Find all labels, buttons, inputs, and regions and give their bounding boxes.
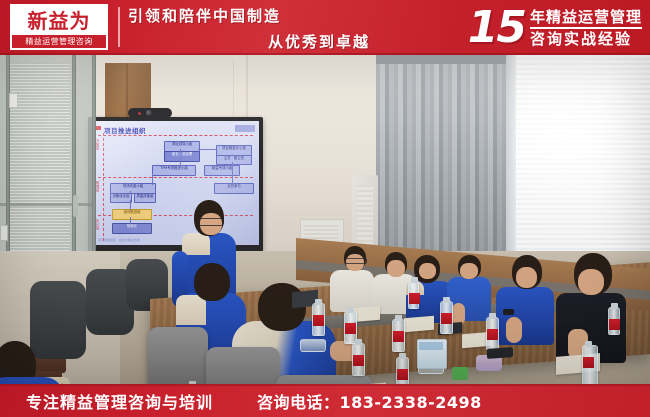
- header-slogan: 引领和陪伴中国制造 从优秀到卓越: [128, 5, 378, 51]
- eyeglasses-icon: [198, 218, 224, 226]
- footer-banner: 专注精益管理咨询与培训 咨询电话：183-2338-2498: [0, 384, 650, 417]
- years-line-1: 年精益运营管理: [530, 8, 642, 26]
- ac-vent-grille: [357, 185, 373, 245]
- curtain-shading: [376, 55, 516, 270]
- meeting-photo: 项目推进组织 决策层 管理层 执行层 项目领导小组 组长：总经理 项目推进办公室…: [0, 55, 650, 384]
- person-face: [460, 263, 478, 279]
- slogan-line-2: 从优秀到卓越: [128, 31, 378, 52]
- logo-name: 新益为: [12, 6, 106, 35]
- years-rule: [530, 27, 642, 29]
- uniform-shoulder-panel: [182, 233, 210, 255]
- years-number: 15: [468, 6, 525, 50]
- footer-phone-text: 咨询电话：183-2338-2498: [257, 389, 482, 413]
- company-logo: 新益为 精益运营管理咨询: [10, 4, 108, 50]
- water-bottle: [396, 357, 409, 384]
- glass-ashtray: [300, 339, 326, 352]
- header-divider: [118, 7, 120, 47]
- water-bottle: [582, 345, 598, 384]
- door-handle[interactable]: [73, 195, 78, 217]
- smartphone: [487, 347, 513, 359]
- camera-indicator-light: [138, 112, 141, 115]
- water-bottle: [312, 303, 325, 336]
- water-bottle: [608, 307, 620, 335]
- eyeglasses-icon: [345, 258, 367, 264]
- notebook: [404, 316, 434, 333]
- water-bottle: [352, 343, 365, 376]
- wristwatch-icon: [503, 309, 514, 315]
- wall-switch-plate[interactable]: [9, 93, 18, 108]
- curtain-rail: [376, 55, 516, 64]
- header-banner: 新益为 精益运营管理咨询 引领和陪伴中国制造 从优秀到卓越 15 年精益运营管理…: [0, 0, 650, 55]
- meeting-chair: [276, 375, 372, 384]
- person-head: [194, 263, 230, 301]
- person-face: [578, 269, 604, 295]
- water-bottle: [440, 301, 453, 334]
- meeting-chair: [206, 347, 280, 384]
- screen-glare: [92, 121, 259, 245]
- person-face: [387, 260, 405, 277]
- slogan-line-1: 引领和陪伴中国制造: [128, 5, 378, 26]
- green-item: [452, 367, 468, 380]
- water-bottle: [486, 317, 499, 350]
- experience-block: 15 年精益运营管理 咨询实战经验: [468, 2, 642, 53]
- window-daylight-glow: [516, 55, 650, 273]
- screenshot-root: 新益为 精益运营管理咨询 引领和陪伴中国制造 从优秀到卓越 15 年精益运营管理…: [0, 0, 650, 417]
- person-arm: [506, 317, 522, 343]
- water-bottle: [408, 281, 419, 309]
- logo-tagline: 精益运营管理咨询: [12, 35, 106, 48]
- uniform-shoulder-panel: [176, 295, 206, 325]
- years-line-2: 咨询实战经验: [530, 30, 642, 48]
- camera-lens-icon: [146, 110, 152, 116]
- water-bottle: [392, 319, 405, 352]
- person-torso: [330, 270, 374, 312]
- person-face: [516, 267, 537, 288]
- footer-service-text: 专注精益管理咨询与培训: [26, 389, 213, 413]
- person-face: [419, 263, 436, 279]
- equipment-box-vent: [304, 225, 338, 239]
- office-chair: [30, 281, 86, 359]
- tissue-box-top: [419, 342, 443, 350]
- wall-switch-plate[interactable]: [0, 225, 8, 241]
- partition-rail: [0, 203, 96, 206]
- person-torso: [496, 287, 554, 345]
- meeting-chair: [148, 327, 208, 384]
